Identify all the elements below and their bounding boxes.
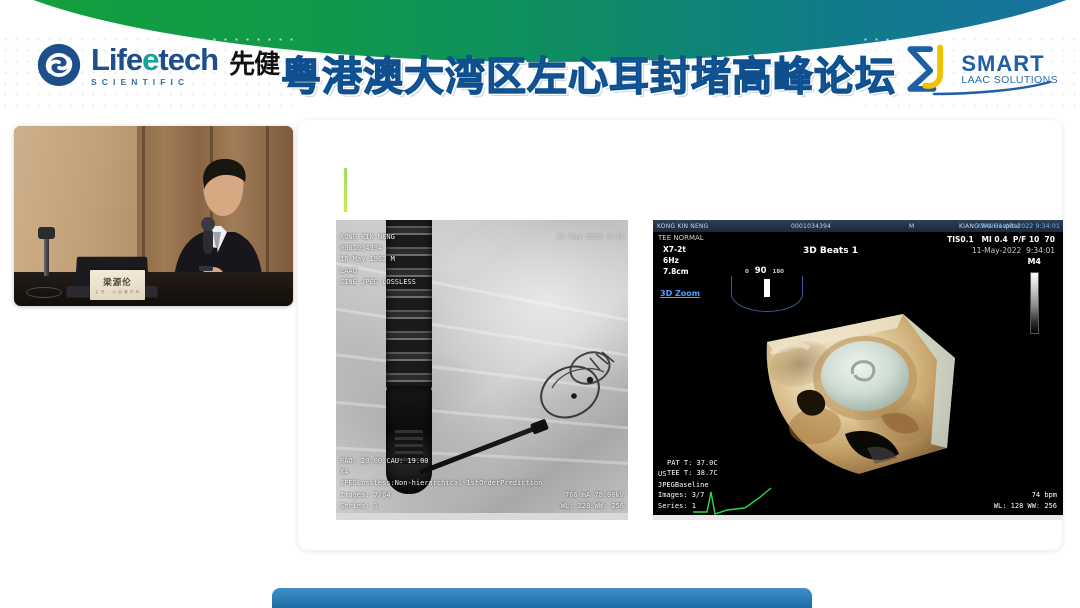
page-title: 粤港澳大湾区左心耳封堵高峰论坛 [281,44,896,102]
lifetech-wordmark: Lifeetech [91,44,218,75]
speaker-name-card: 梁源伦 主 任 ・ 心 血 管 内 科 [90,270,145,300]
bottom-accent-bar [272,588,812,608]
fluoro-technique-info: 766 mA 78.00kV WL: 128 WW: 256 [561,490,624,512]
echo-preset: TEE NORMAL [658,233,704,244]
ecg-trace [693,486,793,516]
speaker-title: 主 任 ・ 心 血 管 内 科 [95,290,140,295]
fluoroscopy-image[interactable]: KONG KIN NENG 0001034394 16-May-1963 M L… [336,220,628,520]
laa-3d-volume-render [741,298,989,478]
microphone-stand-icon [44,236,49,278]
lifetech-swirl-icon [36,42,82,88]
echo-patient-bar: KONG KIN NENG 0001034394 M KIANG WU Hosp… [653,220,1063,232]
echo-beats-label: 3D Beats 1 [803,246,858,257]
echo-patient-name: KONG KIN NENG [657,223,709,230]
smart-swoosh-icon [932,80,1052,96]
lifetech-logo: Lifeetech SCIENTIFIC 先健 [36,42,279,88]
smart-wordmark: SMART [961,52,1058,75]
echo-output-indices: TIS0.1 MI 0.4 P/F 10 70 11-May-2022 9:34… [947,234,1055,256]
echo-patient-id: 0001034394 [791,223,831,230]
accent-tick-mark [344,168,347,212]
fluoro-bottom-strip [336,513,628,520]
speaker-name: 梁源伦 [103,276,132,288]
echo-grayscale-bar [1030,272,1039,334]
lifetech-chinese-name: 先健 [229,53,279,78]
laa-occluder-device [534,344,622,434]
medical-images-row: KONG KIN NENG 0001034394 16-May-1963 M L… [336,220,1063,520]
slide-root: Lifeetech SCIENTIFIC 先健 粤港澳大湾区左心耳封堵高峰论坛 … [0,0,1080,608]
echo-sector-label: M4 [1027,257,1041,266]
smart-laac-logo: SMART LAAC SOLUTIONS [897,44,1058,94]
echo-institution: KTANG1 WU 2022 9:34:01 [977,223,1060,230]
echo-bottom-strip [653,515,1063,520]
echo-probe-params: X7-2t 6Hz 7.8cm [663,244,689,277]
header-banner: Lifeetech SCIENTIFIC 先健 粤港澳大湾区左心耳封堵高峰论坛 … [0,0,1080,112]
echo-hr-window-info: 74 bpm WL: 128 WW: 256 [994,490,1057,511]
speaker-video-thumbnail[interactable]: 梁源伦 主 任 ・ 心 血 管 内 科 [14,126,293,306]
lifetech-subtitle: SCIENTIFIC [91,78,218,87]
echo-patient-sex: M [909,223,914,230]
slide-content-card: KONG KIN NENG 0001034394 16-May-1963 M L… [298,120,1062,550]
echocardiography-image[interactable]: KONG KIN NENG 0001034394 M KIANG WU Hosp… [653,220,1063,520]
echo-zoom-label: 3D Zoom [660,288,700,299]
fluoro-study-datetime: 11-May-2022 9:34 [557,232,624,243]
table-plate [26,287,62,298]
fluoro-patient-info: KONG KIN NENG 0001034394 16-May-1963 M L… [340,232,416,288]
fluoro-acquisition-info: RAO: 20.00 CAU: 19.00 XA JPEGLossless:No… [340,456,542,512]
